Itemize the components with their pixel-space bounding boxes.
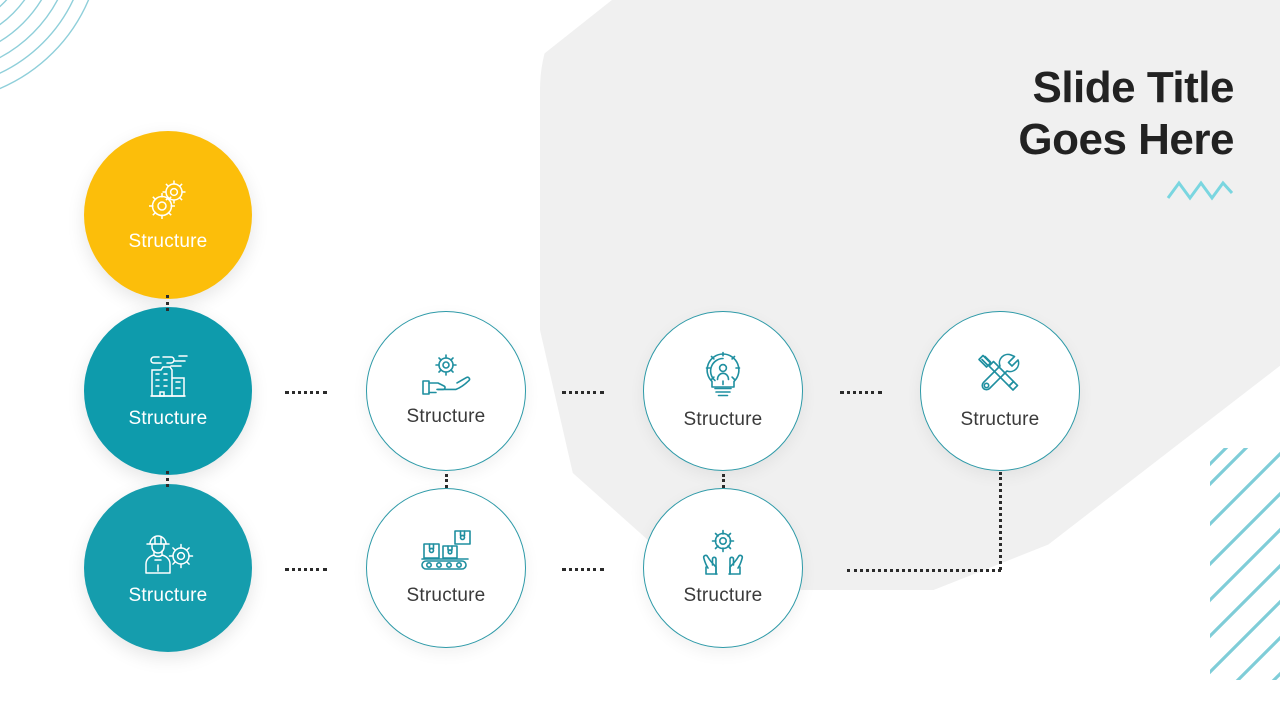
node-label: Structure: [407, 585, 486, 607]
conveyor-belt-boxes-icon: [417, 529, 475, 577]
concentric-arcs-icon: [0, 0, 134, 134]
two-gears-icon: [141, 177, 195, 223]
connector-node2-node3: [166, 471, 169, 487]
node-label: Structure: [684, 585, 763, 607]
node-structure-8[interactable]: Structure: [643, 488, 803, 648]
slide-title-line-1: Slide Title: [594, 62, 1234, 114]
zigzag-accent-icon: [1166, 178, 1234, 202]
node-structure-4[interactable]: Structure: [366, 311, 526, 471]
node-structure-3[interactable]: Structure: [84, 484, 252, 652]
two-hands-gear-icon: [696, 529, 750, 577]
connector-node3-node7: [285, 568, 327, 571]
connector-node7-node8: [562, 568, 604, 571]
slide-title-line-2: Goes Here: [594, 114, 1234, 166]
diagonal-hatch-icon: [1210, 448, 1280, 680]
connector-node4-node7: [445, 474, 448, 488]
node-structure-2[interactable]: Structure: [84, 307, 252, 475]
connector-node6-down: [999, 472, 1002, 570]
node-label: Structure: [684, 409, 763, 431]
connector-node5-node8: [722, 474, 725, 488]
factory-building-icon: [140, 352, 196, 400]
node-label: Structure: [961, 409, 1040, 431]
node-label: Structure: [129, 231, 208, 253]
connector-node2-node4: [285, 391, 327, 394]
slide-canvas: Slide Title Goes Here Structure: [0, 0, 1280, 720]
node-label: Structure: [407, 406, 486, 428]
worker-gear-icon: [138, 529, 198, 577]
lightbulb-gear-person-icon: [698, 351, 748, 401]
node-label: Structure: [129, 408, 208, 430]
connector-node6-left: [847, 569, 1001, 572]
node-structure-7[interactable]: Structure: [366, 488, 526, 648]
node-structure-5[interactable]: Structure: [643, 311, 803, 471]
connector-node5-node6: [840, 391, 882, 394]
slide-title: Slide Title Goes Here: [594, 62, 1234, 166]
node-structure-1[interactable]: Structure: [84, 131, 252, 299]
connector-node1-node2: [166, 295, 169, 311]
node-structure-6[interactable]: Structure: [920, 311, 1080, 471]
wrench-screwdriver-icon: [975, 351, 1025, 401]
connector-node4-node5: [562, 391, 604, 394]
hand-holding-gear-icon: [418, 354, 474, 398]
node-label: Structure: [129, 585, 208, 607]
